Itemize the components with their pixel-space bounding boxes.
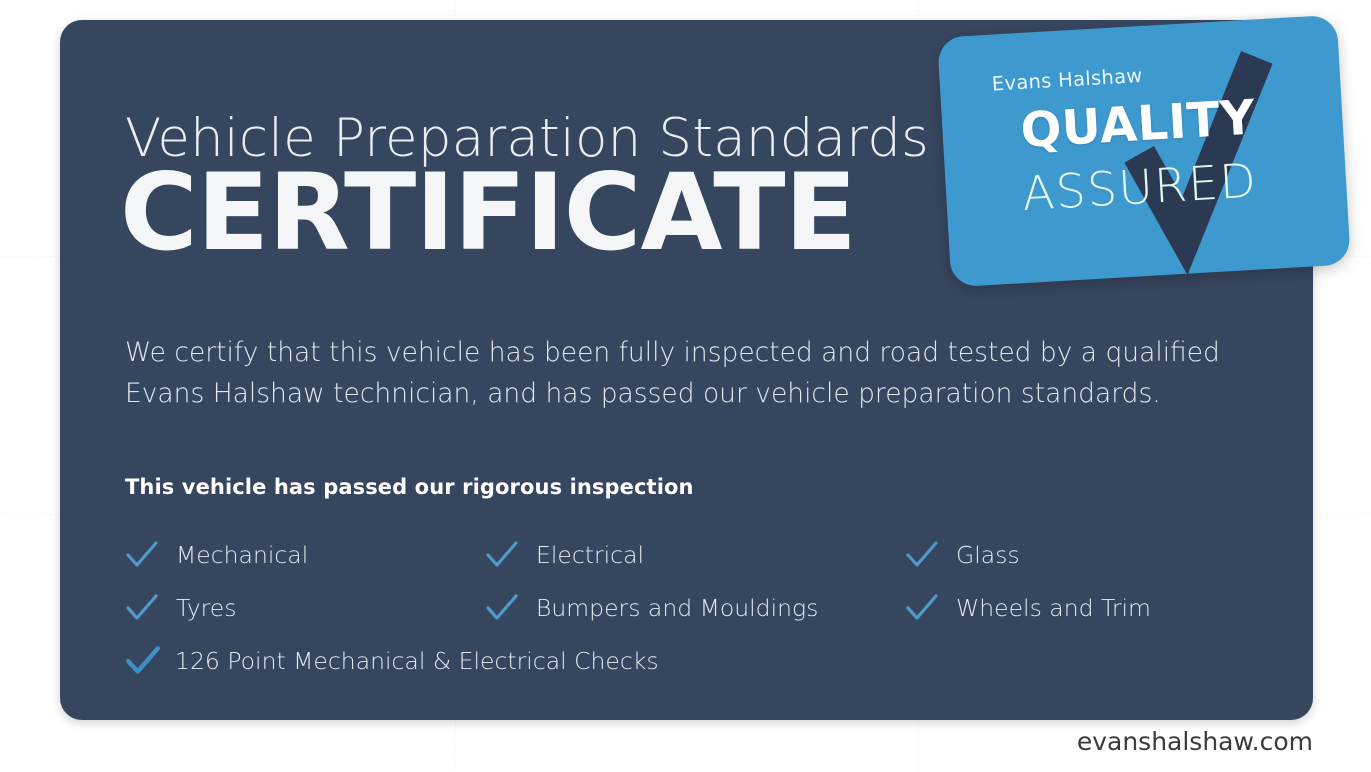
list-item: 126 Point Mechanical & Electrical Checks [125, 645, 659, 677]
list-item-label: Glass [956, 541, 1020, 569]
checklist-row: Mechanical Electrical [125, 528, 1275, 581]
check-tick-icon [905, 540, 947, 570]
quality-assured-badge: Evans Halshaw QUALITY ASSURED [937, 15, 1351, 288]
checklist-row: 126 Point Mechanical & Electrical Checks [125, 634, 1275, 687]
inspection-heading: This vehicle has passed our rigorous ins… [125, 475, 694, 499]
list-item-label: Electrical [536, 541, 644, 569]
check-tick-icon [485, 540, 527, 570]
list-item: Tyres [125, 593, 485, 623]
check-tick-icon [125, 645, 167, 677]
inspection-checklist: Mechanical Electrical [125, 528, 1275, 687]
list-item: Wheels and Trim [905, 593, 1245, 623]
list-item-label: 126 Point Mechanical & Electrical Checks [175, 647, 659, 675]
check-tick-icon [125, 540, 167, 570]
list-item: Glass [905, 540, 1245, 570]
list-item-label: Wheels and Trim [956, 594, 1151, 622]
list-item: Electrical [485, 540, 905, 570]
list-item: Bumpers and Mouldings [485, 593, 905, 623]
list-item-label: Bumpers and Mouldings [536, 594, 818, 622]
check-tick-icon [905, 593, 947, 623]
check-tick-icon [485, 593, 527, 623]
page-title: CERTIFICATE [120, 160, 856, 266]
check-tick-icon [125, 593, 167, 623]
list-item-label: Tyres [176, 594, 236, 622]
list-item: Mechanical [125, 540, 485, 570]
certify-paragraph: We certify that this vehicle has been fu… [125, 332, 1275, 414]
checklist-row: Tyres Bumpers and Mouldings [125, 581, 1275, 634]
list-item-label: Mechanical [176, 541, 308, 569]
footer-website-label: evanshalshaw.com [1077, 727, 1313, 756]
